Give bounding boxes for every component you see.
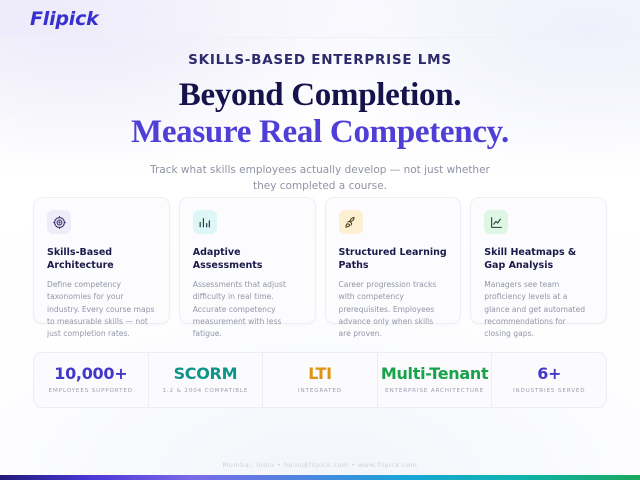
feature-card[interactable]: Structured Learning Paths Career progres… [325, 197, 462, 324]
stats-bar: 10,000+ EMPLOYEES SUPPORTED SCORM 1.2 & … [33, 352, 607, 408]
page-header: Flipick [0, 0, 640, 38]
stat-item: SCORM 1.2 & 2004 COMPATIBLE [149, 353, 264, 407]
hero-subhead: Track what skills employees actually dev… [150, 162, 490, 195]
bottom-accent-bar [0, 475, 640, 480]
stat-value: 6+ [537, 366, 561, 382]
feature-icon-wrap-3 [339, 210, 363, 234]
hero-eyebrow: SKILLS-BASED ENTERPRISE LMS [0, 52, 640, 68]
stat-label: INTEGRATED [298, 388, 342, 394]
hero-section: SKILLS-BASED ENTERPRISE LMS Beyond Compl… [0, 52, 640, 194]
feature-body: Managers see team proficiency levels at … [484, 279, 593, 340]
feature-title: Skills-Based Architecture [47, 247, 156, 272]
feature-card-list: Skills-Based Architecture Define compete… [33, 197, 607, 324]
stat-label: INDUSTRIES SERVED [513, 388, 585, 394]
stat-value: SCORM [174, 366, 238, 382]
stat-item: LTI INTEGRATED [263, 353, 378, 407]
feature-body: Define competency taxonomies for your in… [47, 279, 156, 340]
feature-icon-wrap-4 [484, 210, 508, 234]
stat-value: Multi-Tenant [381, 366, 489, 382]
stat-label: 1.2 & 2004 COMPATIBLE [163, 388, 249, 394]
feature-body: Career progression tracks with competenc… [339, 279, 448, 340]
headline-line-1: Beyond Completion. [0, 77, 640, 114]
stat-label: EMPLOYEES SUPPORTED [49, 388, 133, 394]
feature-icon-wrap-2 [193, 210, 217, 234]
footer-contact: Mumbai, India • hello@flipick.com • www.… [0, 461, 640, 469]
feature-card[interactable]: Skills-Based Architecture Define compete… [33, 197, 170, 324]
page-title: Beyond Completion. Measure Real Competen… [0, 77, 640, 151]
feature-title: Structured Learning Paths [339, 247, 448, 272]
feature-icon-wrap-1 [47, 210, 71, 234]
stat-value: 10,000+ [54, 366, 127, 382]
stat-item: 10,000+ EMPLOYEES SUPPORTED [34, 353, 149, 407]
feature-card[interactable]: Adaptive Assessments Assessments that ad… [179, 197, 316, 324]
stat-value: LTI [308, 366, 332, 382]
line-chart-icon [490, 216, 503, 229]
stat-item: 6+ INDUSTRIES SERVED [492, 353, 606, 407]
rocket-icon [344, 216, 357, 229]
feature-title: Skill Heatmaps & Gap Analysis [484, 247, 593, 272]
bar-chart-icon [198, 216, 211, 229]
headline-line-2: Measure Real Competency. [0, 114, 640, 151]
target-icon [53, 216, 66, 229]
stat-item: Multi-Tenant ENTERPRISE ARCHITECTURE [378, 353, 493, 407]
slide-root: Flipick SKILLS-BASED ENTERPRISE LMS Beyo… [0, 0, 640, 480]
feature-card[interactable]: Skill Heatmaps & Gap Analysis Managers s… [470, 197, 607, 324]
brand-logo[interactable]: Flipick [30, 8, 99, 30]
feature-title: Adaptive Assessments [193, 247, 302, 272]
stat-label: ENTERPRISE ARCHITECTURE [385, 388, 484, 394]
feature-body: Assessments that adjust difficulty in re… [193, 279, 302, 340]
